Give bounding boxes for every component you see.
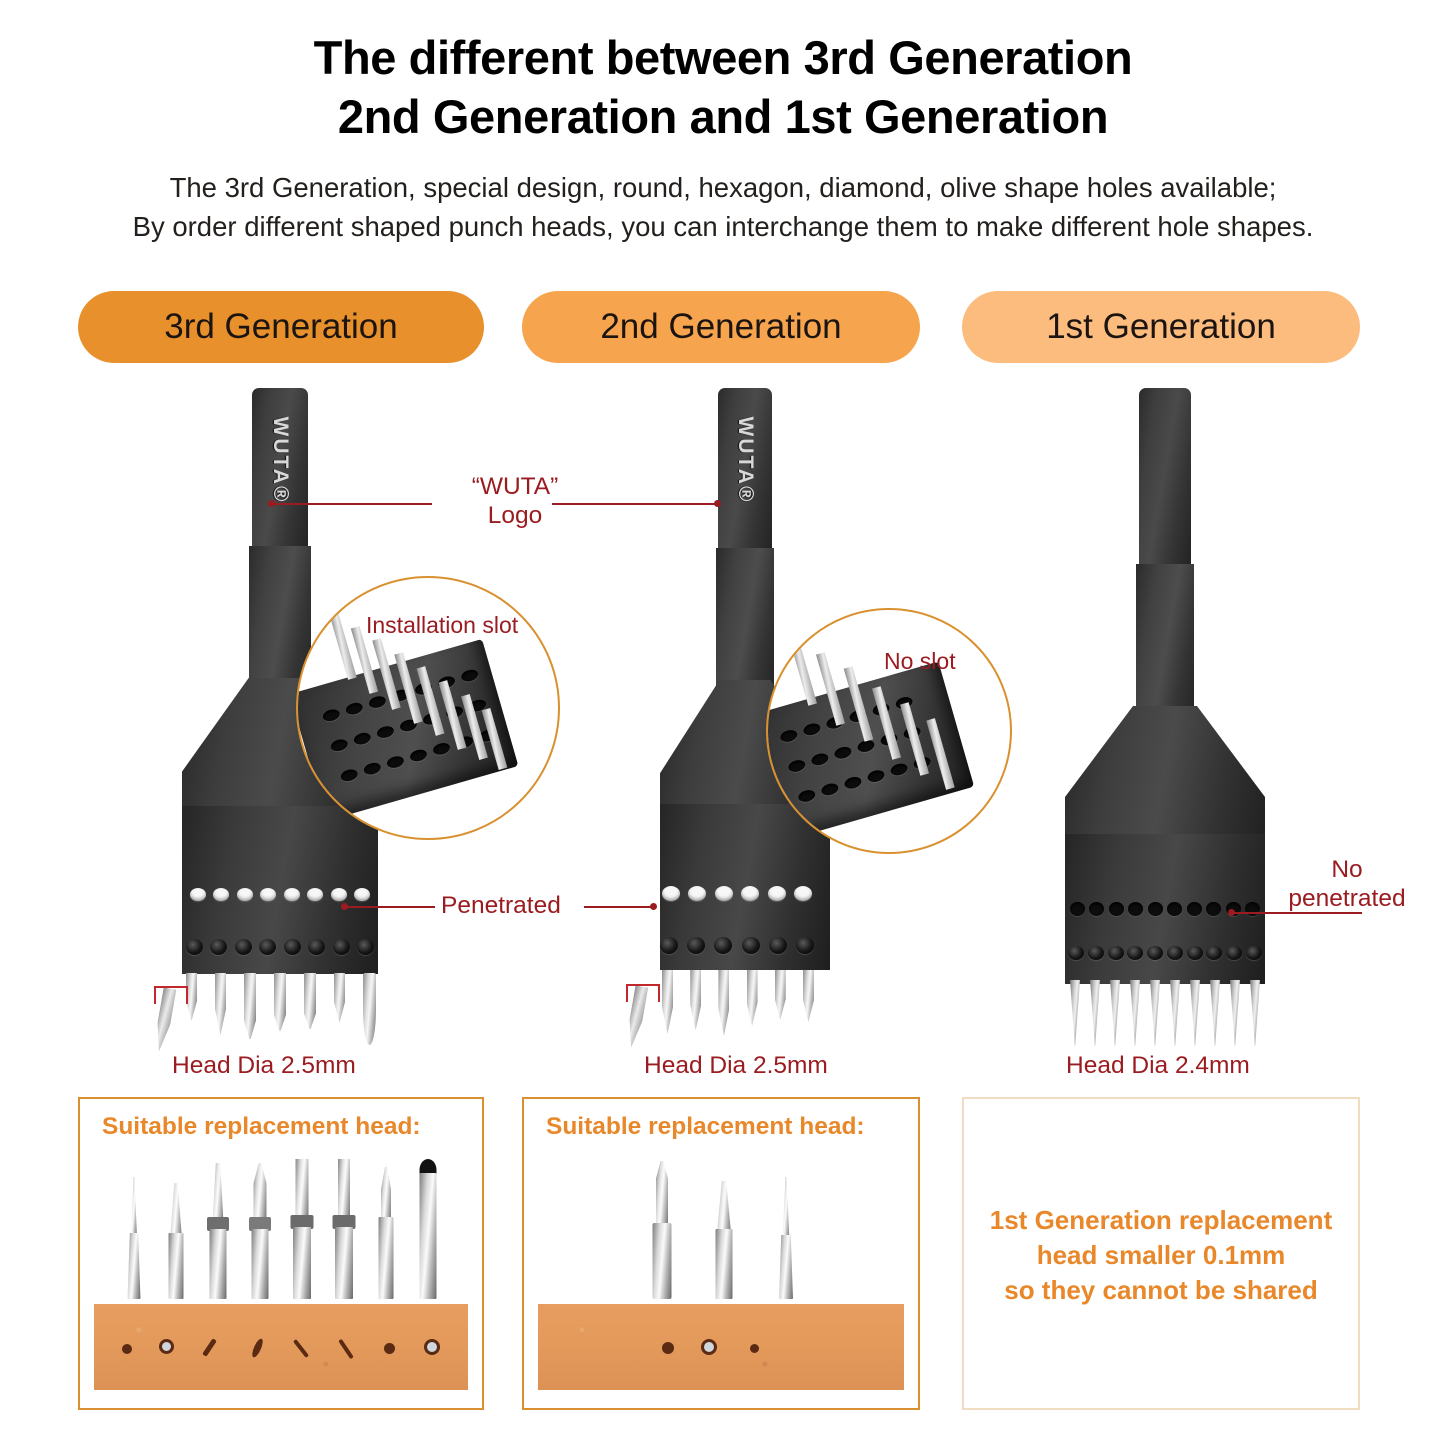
installation-socket [284,939,301,955]
wuta-annotation-line-2: Logo [488,502,543,529]
non-penetrated-hole [1167,902,1182,916]
punch-tip [775,970,786,1020]
installation-socket [235,939,252,955]
note-line-2: head smaller 0.1mm [1037,1240,1286,1270]
no-penetrated-annotation: No penetrated [1272,855,1422,914]
penetrated-hole [794,886,812,901]
installation-socket-row-3rd [186,939,374,955]
replacement-head-box-3rd: Suitable replacement head: [78,1097,484,1410]
replacement-bit [155,1177,197,1299]
fixed-prong [1250,980,1260,1046]
replacement-bit [755,1177,817,1299]
pill-label-2nd: 2nd Generation [600,307,841,347]
no-penetrated-leader-line [1232,912,1362,914]
tool-neck [716,548,774,696]
wuta-logo-3rd: WUTA® [268,417,292,504]
generation-pill-2nd: 2nd Generation [522,291,920,363]
installed-bit [788,632,817,706]
fixed-prong [1210,980,1220,1046]
fixed-prong [1090,980,1100,1046]
punch-tip [718,970,729,1036]
penetrated-hole [284,888,300,901]
wuta-leader-line-left [272,503,432,505]
infographic-page: The different between 3rd Generation 2nd… [0,0,1446,1446]
no-slot-label: No slot [884,648,956,675]
installation-socket [210,939,227,955]
leather-hole [122,1344,132,1354]
tool-handle [1139,388,1191,568]
generation-pill-3rd: 3rd Generation [78,291,484,363]
leather-hole [338,1339,354,1359]
installation-slot-label: Installation slot [366,612,518,639]
note-box-1st: 1st Generation replacement head smaller … [962,1097,1360,1410]
penetrated-hole [190,888,206,901]
wuta-annotation-line-1: “WUTA” [472,473,559,500]
punch-tip [690,970,701,1030]
generation-pill-1st: 1st Generation [962,291,1360,363]
penetrated-hole-row-3rd [190,888,370,901]
leather-sample-2nd [538,1304,904,1390]
pill-label-1st: 1st Generation [1046,307,1276,347]
penetrated-hole [213,888,229,901]
fixed-prong [1070,980,1080,1046]
punch-tip [274,973,286,1031]
punch-tip [244,973,256,1039]
wuta-logo-annotation: “WUTA” Logo [440,472,590,531]
leather-hole [704,1342,714,1352]
replacement-bit-row-2nd [624,1159,824,1299]
installation-socket [796,937,814,954]
no-penetrated-line-1: No [1331,856,1362,883]
leather-sample-3rd [94,1304,468,1390]
socket-hole [1167,946,1183,960]
punch-tip [747,970,758,1026]
socket-hole [1147,946,1163,960]
non-penetrated-hole [1070,902,1085,916]
fixed-prong-row-1st [1070,980,1260,1046]
non-penetrated-hole [1148,902,1163,916]
title-line-2: 2nd Generation and 1st Generation [0,87,1446,146]
tool-shoulder [1065,706,1265,836]
penetrated-hole [715,886,733,901]
punch-tip-row-3rd [186,973,376,1045]
punch-tip [363,973,376,1045]
installed-bit [328,608,356,680]
fixed-prong [1110,980,1120,1046]
replacement-bit [693,1181,755,1299]
punch-tip [803,970,814,1022]
penetrated-leader-dot-left [341,903,348,910]
penetrated-leader-line-right [584,906,654,908]
penetrated-hole [307,888,323,901]
subtitle-line-1: The 3rd Generation, special design, roun… [170,172,1277,203]
punch-tip [215,973,226,1035]
penetrated-hole [354,888,370,901]
penetrated-hole [237,888,253,901]
socket-row-1st [1068,946,1262,960]
replacement-bit [113,1177,155,1299]
leather-hole [250,1337,265,1358]
fixed-prong [1190,980,1200,1046]
installation-socket [769,937,787,954]
socket-hole [1246,946,1262,960]
penetrated-hole [331,888,347,901]
replacement-bit [323,1159,365,1299]
note-line-1: 1st Generation replacement [990,1205,1332,1235]
leather-hole [662,1342,674,1354]
installation-socket [333,939,350,955]
socket-hole [1226,946,1242,960]
installation-socket [660,937,678,954]
replacement-head-box-2nd: Suitable replacement head: [522,1097,920,1410]
penetrated-annotation: Penetrated [441,892,561,920]
wuta-leader-dot-right [714,500,721,507]
fixed-prong [1170,980,1180,1046]
note-line-3: so they cannot be shared [1004,1275,1318,1305]
replacement-bit [281,1159,323,1299]
subtitle-line-2: By order different shaped punch heads, y… [0,207,1446,246]
box-title-3rd: Suitable replacement head: [102,1113,421,1141]
tool-1st-generation [1040,388,1290,1048]
non-penetrated-hole [1206,902,1221,916]
punch-tip [304,973,316,1029]
socket-hole [1068,946,1084,960]
socket-hole [1127,946,1143,960]
penetrated-leader-line-left [345,906,435,908]
socket-hole [1187,946,1203,960]
note-1st-generation: 1st Generation replacement head smaller … [964,1203,1358,1307]
box-title-2nd: Suitable replacement head: [546,1113,865,1141]
installation-socket [186,939,203,955]
installation-socket [308,939,325,955]
installation-socket [357,939,374,955]
head-dia-label-3rd: Head Dia 2.5mm [172,1052,356,1080]
installation-socket [259,939,276,955]
non-penetrated-hole [1089,902,1104,916]
no-penetrated-line-2: penetrated [1288,885,1405,912]
pill-label-3rd: 3rd Generation [164,307,397,347]
installation-socket [714,937,732,954]
penetrated-hole [688,886,706,901]
installation-socket-row-2nd [660,937,814,954]
replacement-bit [407,1159,449,1299]
fixed-prong [1230,980,1240,1046]
title-line-1: The different between 3rd Generation [314,31,1133,84]
non-penetrated-hole [1128,902,1143,916]
caliper-marker-2nd [626,984,668,1006]
replacement-bit [365,1167,407,1299]
penetrated-hole [662,886,680,901]
socket-hole [1088,946,1104,960]
replacement-bit [631,1161,693,1299]
no-penetrated-leader-dot [1228,909,1235,916]
caliper-marker-3rd [154,986,196,1008]
leather-hole [427,1342,437,1352]
non-penetrated-hole [1187,902,1202,916]
tool-neck [1136,564,1194,722]
leather-hole [293,1339,309,1358]
penetrated-hole [741,886,759,901]
fixed-prong [1150,980,1160,1046]
wuta-leader-dot-left [268,500,275,507]
socket-hole [1206,946,1222,960]
leather-hole [750,1344,759,1353]
replacement-bit [197,1163,239,1299]
penetrated-hole [260,888,276,901]
penetrated-hole [768,886,786,901]
replacement-bit-row-3rd [94,1159,468,1299]
head-dia-label-1st: Head Dia 2.4mm [1066,1052,1250,1080]
fixed-prong [1130,980,1140,1046]
socket-hole [1108,946,1124,960]
leather-hole [384,1343,395,1354]
punch-tip-row-2nd [662,970,814,1036]
wuta-leader-line-right [552,503,718,505]
installation-socket [742,937,760,954]
penetrated-leader-dot-right [650,903,657,910]
penetrated-hole-row-2nd [662,886,812,901]
non-penetrated-hole [1109,902,1124,916]
zoom-callout-2nd [766,608,1012,854]
installation-socket [687,937,705,954]
leather-hole [202,1338,217,1357]
page-title: The different between 3rd Generation 2nd… [0,28,1446,146]
page-subtitle: The 3rd Generation, special design, roun… [0,168,1446,246]
wuta-logo-2nd: WUTA® [733,417,757,504]
head-dia-label-2nd: Head Dia 2.5mm [644,1052,828,1080]
replacement-bit [239,1163,281,1299]
punch-tip [334,973,345,1023]
leather-hole [162,1342,171,1351]
non-penetrated-hole [1245,902,1260,916]
